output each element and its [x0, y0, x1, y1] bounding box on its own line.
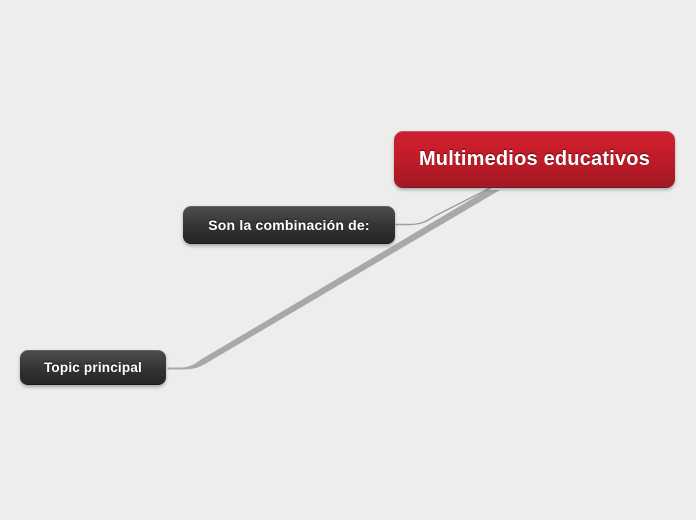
node-subtopic-label: Son la combinación de:: [208, 217, 370, 233]
connector-layer: [0, 0, 696, 520]
mindmap-canvas: Multimedios educativos Son la combinació…: [0, 0, 696, 520]
node-root-multimedios-educativos[interactable]: Multimedios educativos: [394, 131, 675, 188]
node-root-label: Multimedios educativos: [419, 148, 650, 171]
node-topic-label: Topic principal: [44, 360, 142, 375]
node-topic-principal[interactable]: Topic principal: [20, 350, 166, 385]
node-subtopic-son-la-combinacion[interactable]: Son la combinación de:: [183, 206, 395, 244]
